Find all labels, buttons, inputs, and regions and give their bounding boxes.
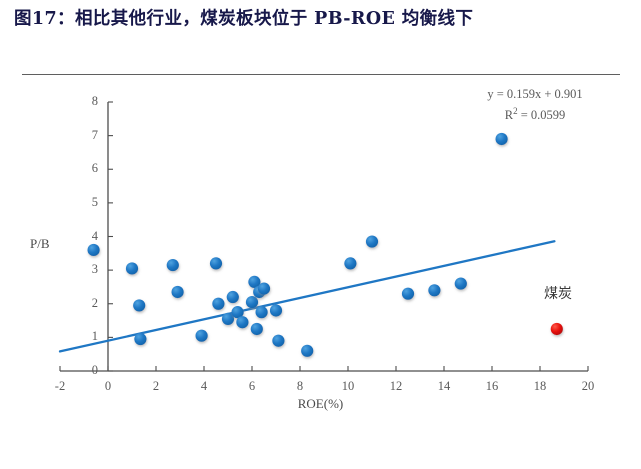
x-axis-tick-label: 2 [141, 379, 171, 394]
x-axis-tick-label: 20 [573, 379, 603, 394]
data-point [134, 333, 146, 345]
data-point [366, 235, 378, 247]
data-point [496, 133, 508, 145]
data-point [167, 259, 179, 271]
figure-page: 图17：相比其他行业，煤炭板块位于 PB-ROE 均衡线下 [0, 0, 641, 469]
r-value: = 0.0599 [518, 108, 566, 122]
data-point [402, 288, 414, 300]
data-point [301, 345, 313, 357]
data-point [258, 283, 270, 295]
data-point [428, 284, 440, 296]
data-point [212, 298, 224, 310]
x-axis-tick-label: 6 [237, 379, 267, 394]
y-axis-tick-label: 1 [74, 329, 98, 344]
data-point [236, 316, 248, 328]
regression-annotation: y = 0.159x + 0.901 R2 = 0.0599 [440, 86, 630, 124]
regression-r-squared: R2 = 0.0599 [440, 103, 630, 124]
data-point [551, 323, 563, 335]
data-point [256, 306, 268, 318]
x-axis-tick-label: 18 [525, 379, 555, 394]
x-axis-tick-label: 10 [333, 379, 363, 394]
regression-equation: y = 0.159x + 0.901 [440, 86, 630, 103]
y-axis-tick-label: 7 [74, 128, 98, 143]
coal-annotation-label: 煤炭 [526, 283, 590, 303]
x-axis-tick-label: 12 [381, 379, 411, 394]
data-points [88, 133, 563, 357]
data-point [272, 335, 284, 347]
trend-line [60, 241, 554, 351]
x-axis-tick-label: -2 [45, 379, 75, 394]
x-axis-tick-label: 4 [189, 379, 219, 394]
data-point [270, 304, 282, 316]
data-point [196, 330, 208, 342]
r-symbol: R [505, 108, 513, 122]
data-point [227, 291, 239, 303]
x-axis-tick-label: 14 [429, 379, 459, 394]
data-point [344, 257, 356, 269]
y-axis-tick-label: 3 [74, 262, 98, 277]
data-point [172, 286, 184, 298]
y-axis-tick-label: 5 [74, 195, 98, 210]
title-block: 图17：相比其他行业，煤炭板块位于 PB-ROE 均衡线下 [14, 6, 628, 33]
page-title: 图17：相比其他行业，煤炭板块位于 PB-ROE 均衡线下 [14, 6, 628, 33]
x-axis-label: ROE(%) [0, 396, 641, 412]
data-point [210, 257, 222, 269]
y-axis-tick-label: 0 [74, 363, 98, 378]
data-point [88, 244, 100, 256]
data-point [126, 262, 138, 274]
axes [60, 102, 588, 371]
data-point [251, 323, 263, 335]
data-point [133, 299, 145, 311]
data-point [246, 296, 258, 308]
x-axis-tick-label: 0 [93, 379, 123, 394]
y-axis-tick-label: 4 [74, 229, 98, 244]
y-axis-tick-label: 8 [74, 94, 98, 109]
y-axis-tick-label: 2 [74, 296, 98, 311]
title-divider [22, 74, 620, 75]
scatter-chart: 012345678 -202468101214161820 P/B ROE(%)… [0, 78, 641, 469]
x-axis-tick-label: 16 [477, 379, 507, 394]
x-axis-tick-label: 8 [285, 379, 315, 394]
data-point [455, 277, 467, 289]
y-axis-tick-label: 6 [74, 161, 98, 176]
y-axis-label: P/B [30, 236, 50, 252]
